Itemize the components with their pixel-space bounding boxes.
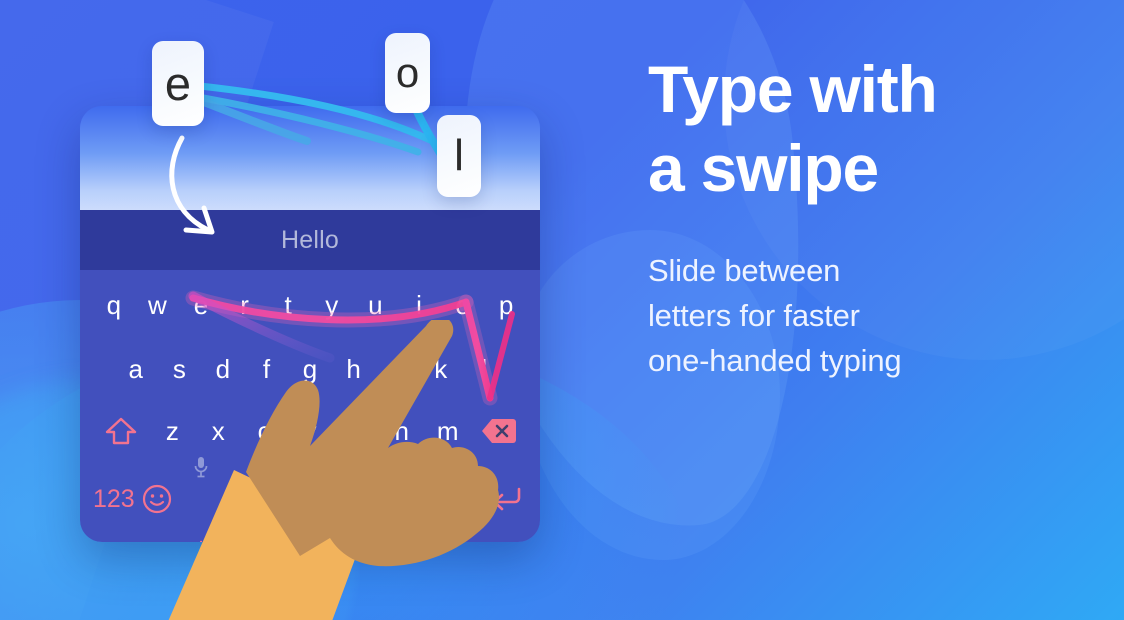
key-l[interactable]: l: [463, 356, 507, 382]
key-z[interactable]: z: [149, 418, 195, 444]
punctuation-label: ,!?: [454, 487, 471, 501]
key-p[interactable]: p: [484, 292, 528, 318]
key-f[interactable]: f: [245, 356, 289, 382]
key-x[interactable]: x: [195, 418, 241, 444]
numbers-key[interactable]: 123: [92, 487, 136, 512]
floating-key-o[interactable]: o: [385, 33, 430, 113]
period-key[interactable]: ,!? .: [441, 487, 485, 512]
key-k[interactable]: k: [419, 356, 463, 382]
keyboard[interactable]: q w e r t y u i o p a s d f g h j k: [80, 270, 540, 542]
key-q[interactable]: q: [92, 292, 136, 318]
promo-banner: Hello q w e r t y u i o p a s d f: [0, 0, 1124, 620]
key-i[interactable]: i: [397, 292, 441, 318]
microphone-key[interactable]: ,: [179, 455, 223, 542]
key-u[interactable]: u: [354, 292, 398, 318]
key-j[interactable]: j: [375, 356, 419, 382]
headline-line-1: Type with: [648, 52, 937, 126]
key-m[interactable]: m: [425, 418, 471, 444]
floating-key-e[interactable]: e: [152, 41, 204, 126]
keyboard-row-2: a s d f g h j k l: [80, 338, 540, 400]
subtitle-line-1: Slide between: [648, 249, 1078, 294]
headline: Type with a swipe: [648, 58, 1078, 201]
backspace-icon[interactable]: [471, 417, 528, 445]
microphone-icon: [193, 455, 209, 483]
key-y[interactable]: y: [310, 292, 354, 318]
key-e[interactable]: e: [179, 292, 223, 318]
subtitle: Slide between letters for faster one-han…: [648, 201, 1078, 384]
key-v[interactable]: v: [287, 418, 333, 444]
key-c[interactable]: c: [241, 418, 287, 444]
period-label: .: [460, 504, 466, 512]
keyboard-row-3: z x c v b n m: [80, 400, 540, 462]
smiley-icon[interactable]: [136, 483, 180, 515]
key-w[interactable]: w: [136, 292, 180, 318]
key-r[interactable]: r: [223, 292, 267, 318]
cursor-right-key[interactable]: ›: [397, 486, 441, 512]
key-d[interactable]: d: [201, 356, 245, 382]
comma-label: ,: [198, 485, 203, 542]
floating-key-l[interactable]: l: [437, 115, 481, 197]
key-b[interactable]: b: [333, 418, 379, 444]
key-o[interactable]: o: [441, 292, 485, 318]
key-a[interactable]: a: [114, 356, 158, 382]
key-t[interactable]: t: [266, 292, 310, 318]
marketing-copy: Type with a swipe Slide between letters …: [648, 58, 1078, 384]
keyboard-row-4: 123: [80, 462, 540, 536]
subtitle-line-2: letters for faster: [648, 294, 1078, 339]
key-n[interactable]: n: [379, 418, 425, 444]
keyboard-row-1: q w e r t y u i o p: [80, 274, 540, 336]
shift-arrow-icon[interactable]: [92, 416, 149, 446]
suggestion-bar[interactable]: Hello: [80, 210, 540, 270]
suggestion-word[interactable]: Hello: [281, 226, 339, 255]
headline-line-2: a swipe: [648, 137, 1078, 200]
key-h[interactable]: h: [332, 356, 376, 382]
enter-return-icon[interactable]: [484, 484, 528, 514]
key-g[interactable]: g: [288, 356, 332, 382]
key-s[interactable]: s: [158, 356, 202, 382]
cursor-left-key[interactable]: ‹: [223, 486, 267, 512]
subtitle-line-3: one-handed typing: [648, 339, 1078, 384]
